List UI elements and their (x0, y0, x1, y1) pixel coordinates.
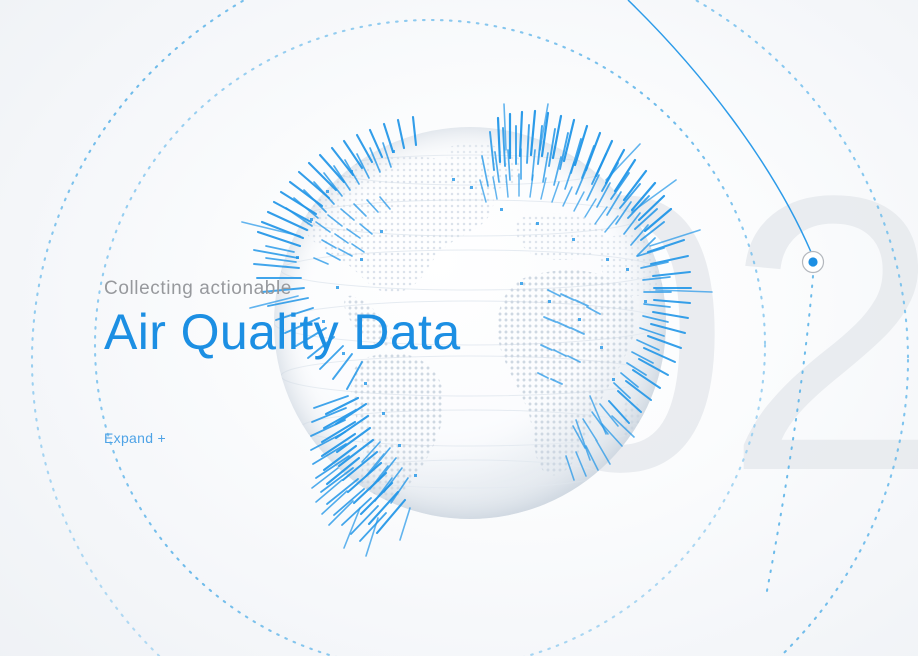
data-point-marker[interactable] (802, 251, 824, 273)
hero-eyebrow: Collecting actionable (104, 278, 461, 300)
expand-link[interactable]: Expand + (104, 430, 166, 446)
marker-tail-dots (766, 276, 813, 596)
hero-canvas: 02 (0, 0, 918, 656)
connector-arc (628, 0, 811, 252)
page-title: Air Quality Data (104, 304, 461, 360)
hero-copy: Collecting actionable Air Quality Data (104, 278, 461, 360)
marker-dot (808, 257, 817, 266)
